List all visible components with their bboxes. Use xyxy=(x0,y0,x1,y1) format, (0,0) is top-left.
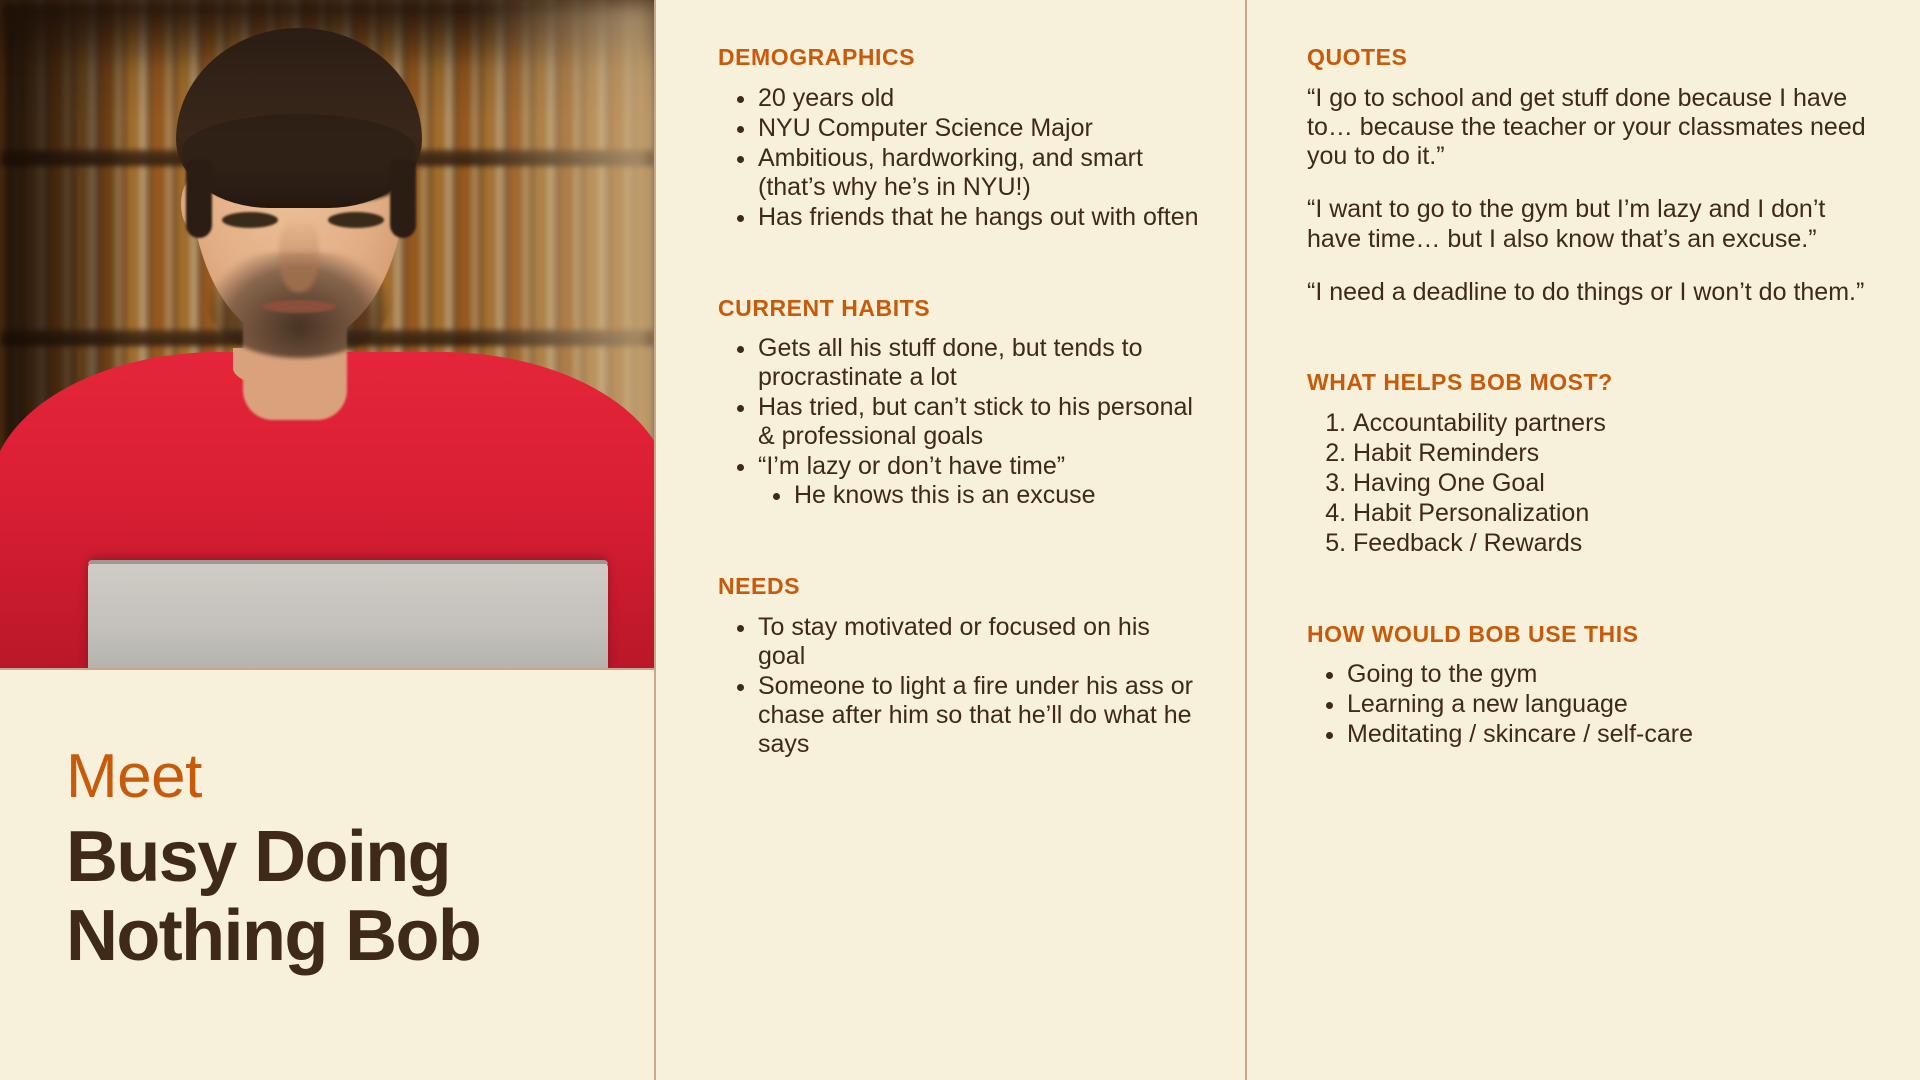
list-item: Has tried, but can’t stick to his person… xyxy=(758,393,1199,451)
needs-list: To stay motivated or focused on his goal… xyxy=(718,613,1199,759)
section-current-habits: CURRENT HABITS Gets all his stuff done, … xyxy=(718,295,1199,511)
how-use-title: HOW WOULD BOB USE THIS xyxy=(1307,621,1874,649)
section-quotes: QUOTES “I go to school and get stuff don… xyxy=(1307,44,1874,307)
sideburn-left xyxy=(186,160,212,238)
section-what-helps-bob: WHAT HELPS BOB MOST? Accountability part… xyxy=(1307,369,1874,558)
list-item: Has friends that he hangs out with often xyxy=(758,203,1199,232)
list-item: Gets all his stuff done, but tends to pr… xyxy=(758,334,1199,392)
current-habits-title: CURRENT HABITS xyxy=(718,295,1199,323)
what-helps-list: Accountability partners Habit Reminders … xyxy=(1307,409,1874,558)
quote-item: “I go to school and get stuff done becau… xyxy=(1307,84,1874,172)
quote-item: “I want to go to the gym but I’m lazy an… xyxy=(1307,195,1874,254)
quote-item: “I need a deadline to do things or I won… xyxy=(1307,278,1874,307)
list-item: Learning a new language xyxy=(1347,690,1874,719)
eye-right xyxy=(328,212,384,228)
horizontal-divider xyxy=(0,668,654,670)
list-item: “I’m lazy or don’t have time” He knows t… xyxy=(758,452,1199,510)
left-column: Meet Busy Doing Nothing Bob xyxy=(0,0,654,1080)
hair xyxy=(176,28,422,208)
spacer xyxy=(718,511,1199,573)
laptop xyxy=(88,560,608,668)
section-demographics: DEMOGRAPHICS 20 years old NYU Computer S… xyxy=(718,44,1199,232)
demographics-list: 20 years old NYU Computer Science Major … xyxy=(718,84,1199,232)
list-item: Habit Personalization xyxy=(1353,499,1874,528)
list-item: Going to the gym xyxy=(1347,660,1874,689)
person-figure xyxy=(0,0,654,668)
mouth xyxy=(262,300,336,313)
section-how-would-bob-use-this: HOW WOULD BOB USE THIS Going to the gym … xyxy=(1307,621,1874,750)
spacer xyxy=(1307,559,1874,621)
spacer xyxy=(718,233,1199,295)
list-item: Someone to light a fire under his ass or… xyxy=(758,672,1199,759)
eye-left xyxy=(222,212,278,228)
list-item: Accountability partners xyxy=(1353,409,1874,438)
list-item: Ambitious, hardworking, and smart (that’… xyxy=(758,144,1199,202)
right-column: QUOTES “I go to school and get stuff don… xyxy=(1247,0,1920,1080)
persona-title-block: Meet Busy Doing Nothing Bob xyxy=(66,745,480,977)
how-use-list: Going to the gym Learning a new language… xyxy=(1307,660,1874,749)
what-helps-title: WHAT HELPS BOB MOST? xyxy=(1307,369,1874,397)
list-item: Habit Reminders xyxy=(1353,439,1874,468)
persona-board: Meet Busy Doing Nothing Bob DEMOGRAPHICS… xyxy=(0,0,1920,1080)
list-item: Meditating / skincare / self-care xyxy=(1347,720,1874,749)
list-item: Having One Goal xyxy=(1353,469,1874,498)
quotes-title: QUOTES xyxy=(1307,44,1874,72)
sub-list-item: He knows this is an excuse xyxy=(794,481,1199,510)
demographics-title: DEMOGRAPHICS xyxy=(718,44,1199,72)
persona-eyebrow: Meet xyxy=(66,745,480,808)
sideburn-right xyxy=(390,160,416,238)
current-habits-sublist: He knows this is an excuse xyxy=(758,481,1199,510)
list-item: 20 years old xyxy=(758,84,1199,113)
persona-photo xyxy=(0,0,654,668)
list-item: To stay motivated or focused on his goal xyxy=(758,613,1199,671)
needs-title: NEEDS xyxy=(718,573,1199,601)
current-habits-list: Gets all his stuff done, but tends to pr… xyxy=(718,334,1199,510)
list-item-text: “I’m lazy or don’t have time” xyxy=(758,452,1065,480)
persona-name-line1: Busy Doing xyxy=(66,818,480,897)
section-needs: NEEDS To stay motivated or focused on hi… xyxy=(718,573,1199,759)
middle-column: DEMOGRAPHICS 20 years old NYU Computer S… xyxy=(656,0,1245,1080)
nose xyxy=(279,216,319,292)
list-item: NYU Computer Science Major xyxy=(758,114,1199,143)
list-item: Feedback / Rewards xyxy=(1353,529,1874,558)
persona-name-line2: Nothing Bob xyxy=(66,897,480,976)
spacer xyxy=(1307,307,1874,369)
